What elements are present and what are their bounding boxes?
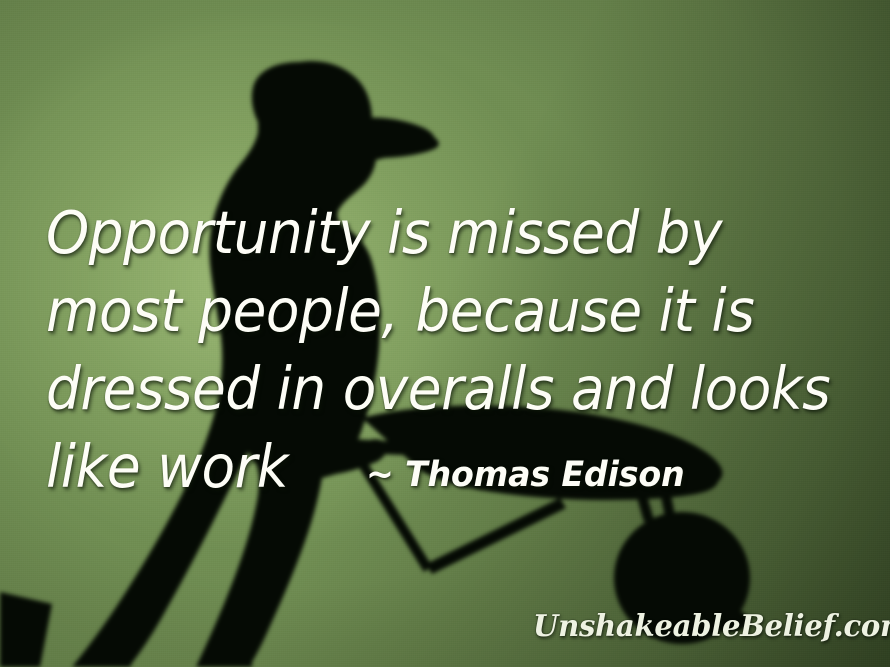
wheelbarrow-strut-silhouette — [426, 498, 566, 574]
wheelbarrow-tub-silhouette — [362, 406, 719, 501]
cap-brim-silhouette — [357, 117, 435, 154]
floor-shadow-wedge — [0, 592, 52, 667]
shadow-silhouette-layer — [0, 0, 890, 667]
quote-poster: Opportunity is missed by most people, be… — [0, 0, 890, 667]
